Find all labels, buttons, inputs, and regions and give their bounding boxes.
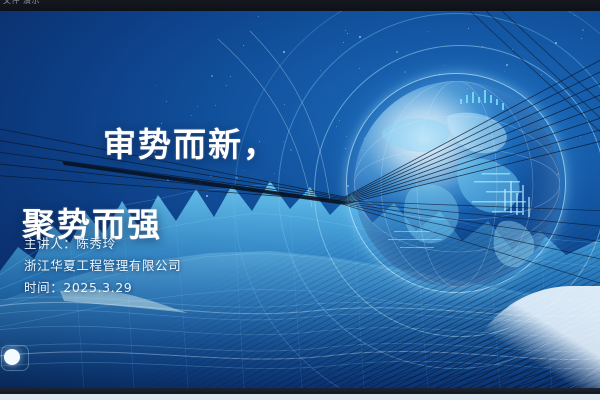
date-line: 时间：2025.3.29 [24, 277, 181, 299]
window-bottom-strip [0, 394, 600, 400]
title-line-1: 审势而新， [103, 125, 278, 164]
company-line: 浙江华夏工程管理有限公司 [24, 255, 181, 277]
slide-canvas[interactable]: 审势而新， 聚势而强 主讲人：陈秀玲 浙江华夏工程管理有限公司 时间：2025.… [0, 11, 600, 388]
titlebar-label: 文件 演示 [3, 0, 40, 6]
slide-meta: 主讲人：陈秀玲 浙江华夏工程管理有限公司 时间：2025.3.29 [24, 233, 181, 299]
window-titlebar: 文件 演示 [0, 0, 600, 11]
white-dot-accent [4, 349, 20, 365]
presenter-line: 主讲人：陈秀玲 [24, 233, 181, 255]
presentation-window: 文件 演示 [0, 0, 600, 400]
